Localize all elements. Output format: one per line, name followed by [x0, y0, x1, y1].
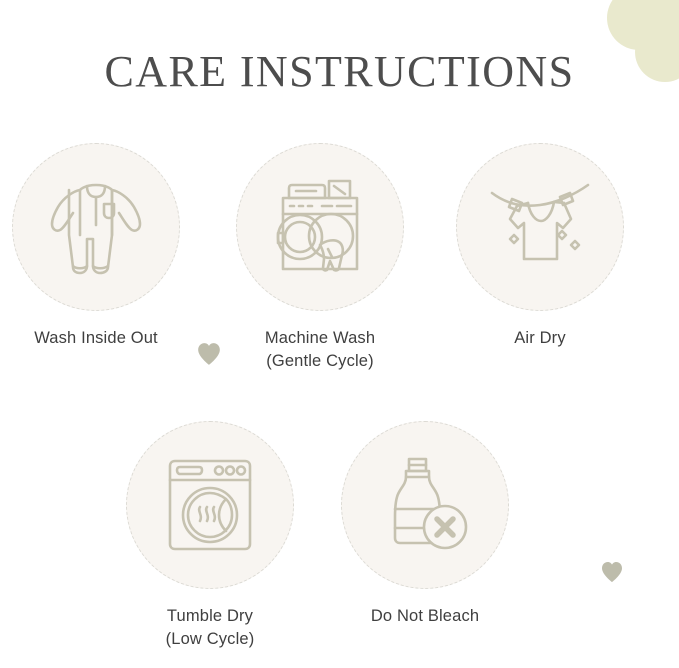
clothesline-tshirt-icon [486, 173, 594, 281]
care-item-wash-inside-out[interactable]: Wash Inside Out [7, 143, 185, 350]
care-item-do-not-bleach[interactable]: Do Not Bleach [336, 421, 514, 628]
icon-circle [456, 143, 624, 311]
care-item-label: Do Not Bleach [336, 605, 514, 628]
icon-circle [341, 421, 509, 589]
care-instructions-card: CARE INSTRUCTIONS [0, 0, 679, 668]
heart-decoration [196, 341, 222, 367]
heart-decoration [600, 560, 624, 584]
care-item-air-dry[interactable]: Air Dry [451, 143, 629, 350]
care-item-tumble-dry[interactable]: Tumble Dry (Low Cycle) [121, 421, 299, 651]
baby-onesie-icon [42, 173, 150, 281]
care-item-label: Air Dry [451, 327, 629, 350]
care-item-machine-wash[interactable]: Machine Wash (Gentle Cycle) [231, 143, 409, 373]
page-title: CARE INSTRUCTIONS [0, 46, 679, 97]
care-item-label: Machine Wash (Gentle Cycle) [231, 327, 409, 373]
icon-circle [126, 421, 294, 589]
icon-circle [236, 143, 404, 311]
washing-machine-icon [266, 173, 374, 281]
care-item-label: Wash Inside Out [7, 327, 185, 350]
care-item-label: Tumble Dry (Low Cycle) [121, 605, 299, 651]
no-bleach-bottle-icon [373, 453, 477, 557]
icon-circle [12, 143, 180, 311]
tumble-dryer-icon [158, 453, 262, 557]
